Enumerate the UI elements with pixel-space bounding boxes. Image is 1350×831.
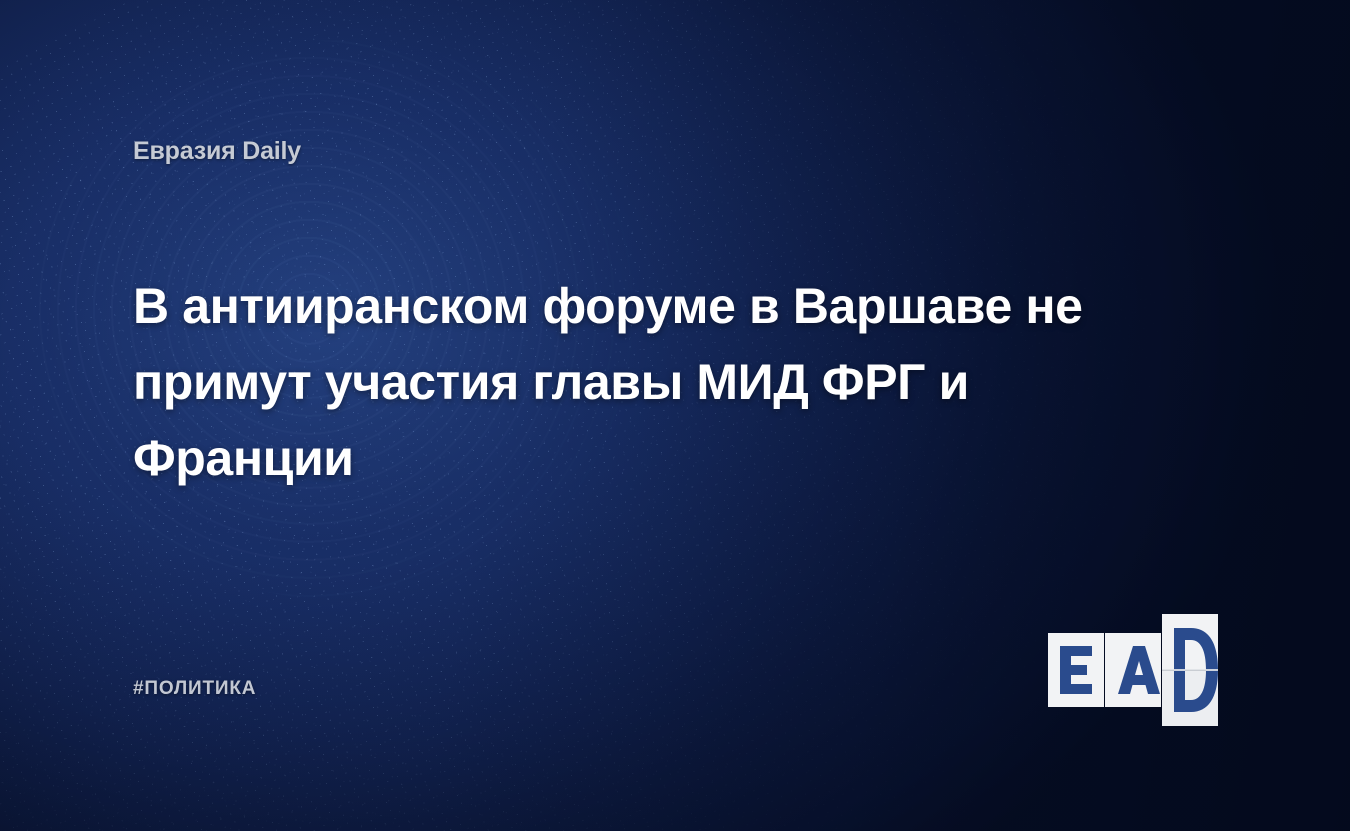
card-content: Евразия Daily В антииранском форуме в Ва… xyxy=(0,0,1350,831)
ead-tile-seam xyxy=(1162,669,1218,671)
ead-logo[interactable] xyxy=(1046,614,1236,726)
news-card: Евразия Daily В антииранском форуме в Ва… xyxy=(0,0,1350,831)
ead-logo-glyphs xyxy=(1046,614,1236,726)
headline: В антииранском форуме в Варшаве не приму… xyxy=(133,268,1133,496)
category-tag-politika[interactable]: #ПОЛИТИКА xyxy=(133,678,256,700)
brand-wordmark[interactable]: Евразия Daily xyxy=(133,137,301,166)
